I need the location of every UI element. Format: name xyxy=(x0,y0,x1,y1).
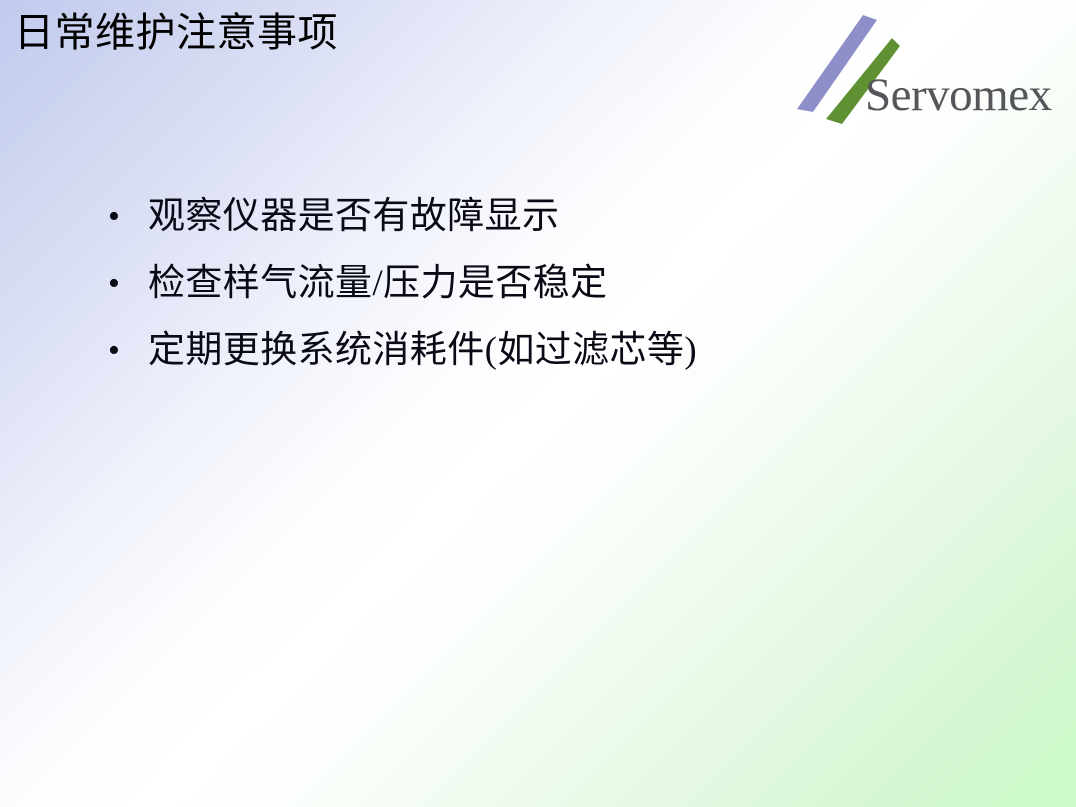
list-item: • 定期更换系统消耗件(如过滤芯等) xyxy=(104,324,1004,391)
page-title: 日常维护注意事项 xyxy=(14,11,338,56)
bullet-marker-icon: • xyxy=(104,190,148,244)
logo-wordmark: Servomex xyxy=(865,72,1052,119)
bullet-text: 定期更换系统消耗件(如过滤芯等) xyxy=(148,324,1004,378)
bullet-marker-icon: • xyxy=(104,257,148,311)
bullet-marker-icon: • xyxy=(104,324,148,378)
bullet-text: 观察仪器是否有故障显示 xyxy=(148,190,1004,244)
servomex-logo: Servomex xyxy=(795,12,1067,130)
list-item: • 检查样气流量/压力是否稳定 xyxy=(104,257,1004,324)
list-item: • 观察仪器是否有故障显示 xyxy=(104,190,1004,257)
bullet-list: • 观察仪器是否有故障显示 • 检查样气流量/压力是否稳定 • 定期更换系统消耗… xyxy=(104,190,1004,391)
bullet-text: 检查样气流量/压力是否稳定 xyxy=(148,257,1004,311)
slide-canvas: 日常维护注意事项 Servomex • 观察仪器是否有故障显示 • 检查样气流量… xyxy=(0,0,1076,807)
